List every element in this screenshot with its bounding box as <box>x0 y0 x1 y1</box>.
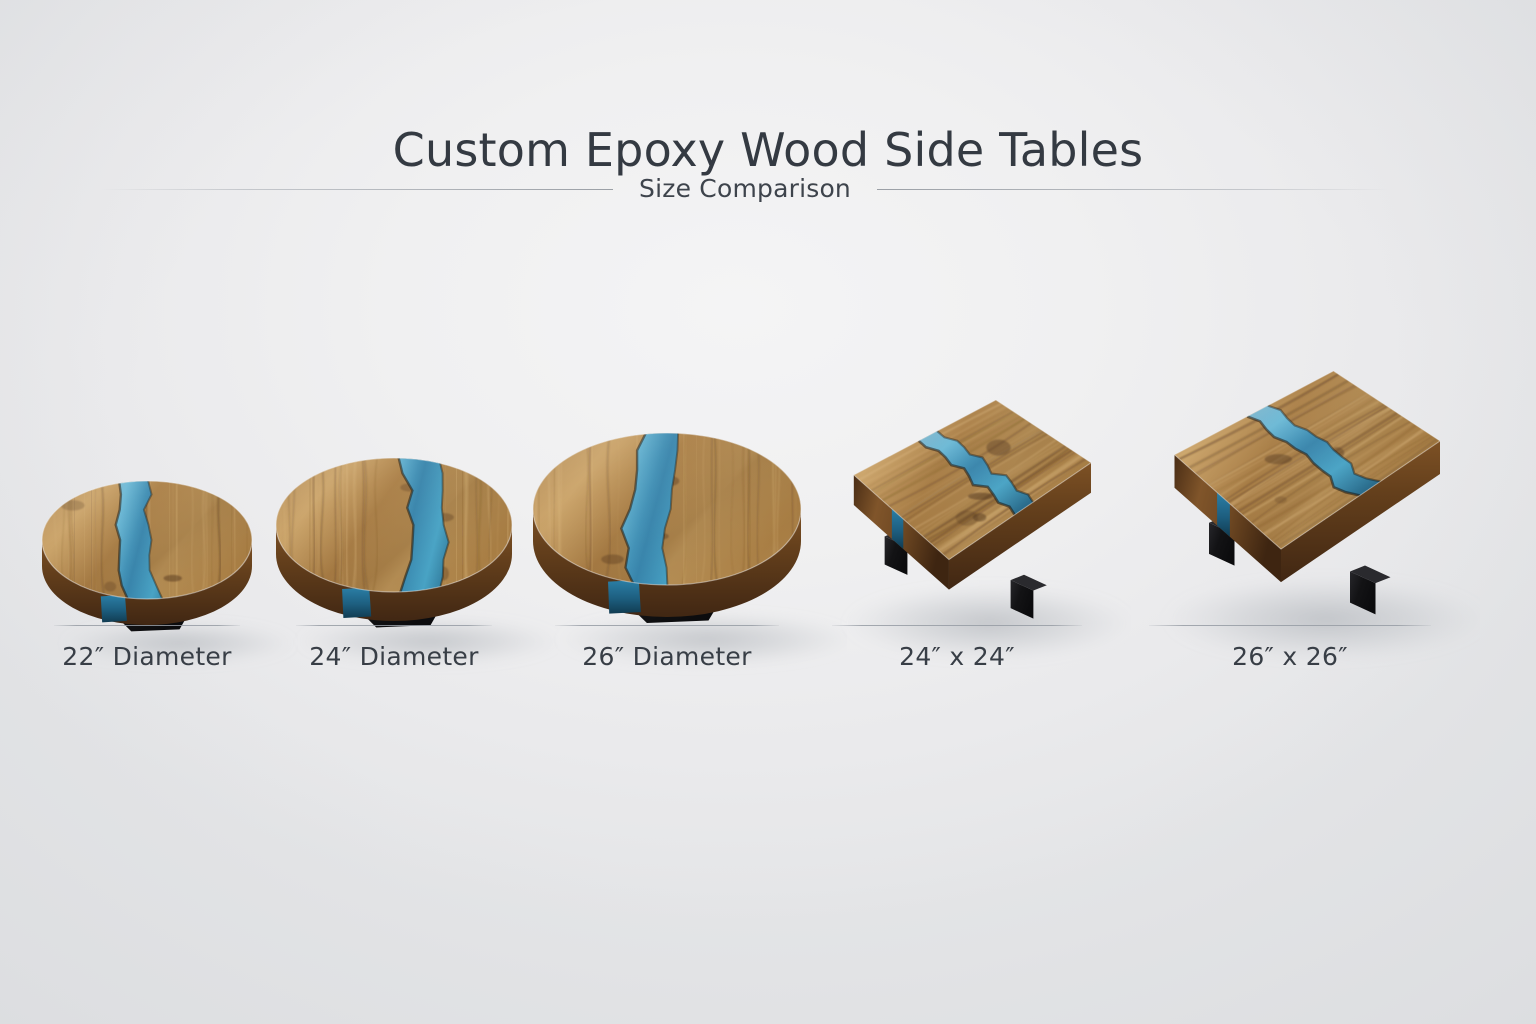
caption-table-24-round: 24″ Diameter <box>296 625 492 671</box>
caption-rule-table-24-round <box>296 625 492 626</box>
caption-table-26-square: 26″ x 26″ <box>1149 625 1431 671</box>
size-label-table-26-square: 26″ x 26″ <box>1149 642 1431 671</box>
size-label-table-22-round: 22″ Diameter <box>54 642 240 671</box>
caption-row: 22″ Diameter24″ Diameter26″ Diameter24″ … <box>0 625 1536 705</box>
size-label-table-26-round: 26″ Diameter <box>555 642 779 671</box>
size-label-table-24-square: 24″ x 24″ <box>832 642 1082 671</box>
header-rule-right <box>877 189 1390 190</box>
caption-table-26-round: 26″ Diameter <box>555 625 779 671</box>
header: Custom Epoxy Wood Side Tables Size Compa… <box>0 0 1536 230</box>
size-label-table-24-round: 24″ Diameter <box>296 642 492 671</box>
caption-rule-table-26-round <box>555 625 779 626</box>
page-subtitle: Size Comparison <box>613 174 877 203</box>
caption-table-22-round: 22″ Diameter <box>54 625 240 671</box>
caption-table-24-square: 24″ x 24″ <box>832 625 1082 671</box>
caption-rule-table-26-square <box>1149 625 1431 626</box>
subtitle-row: Size Comparison <box>100 166 1390 210</box>
caption-rule-table-22-round <box>54 625 240 626</box>
caption-rule-table-24-square <box>832 625 1082 626</box>
header-rule-left <box>100 189 613 190</box>
